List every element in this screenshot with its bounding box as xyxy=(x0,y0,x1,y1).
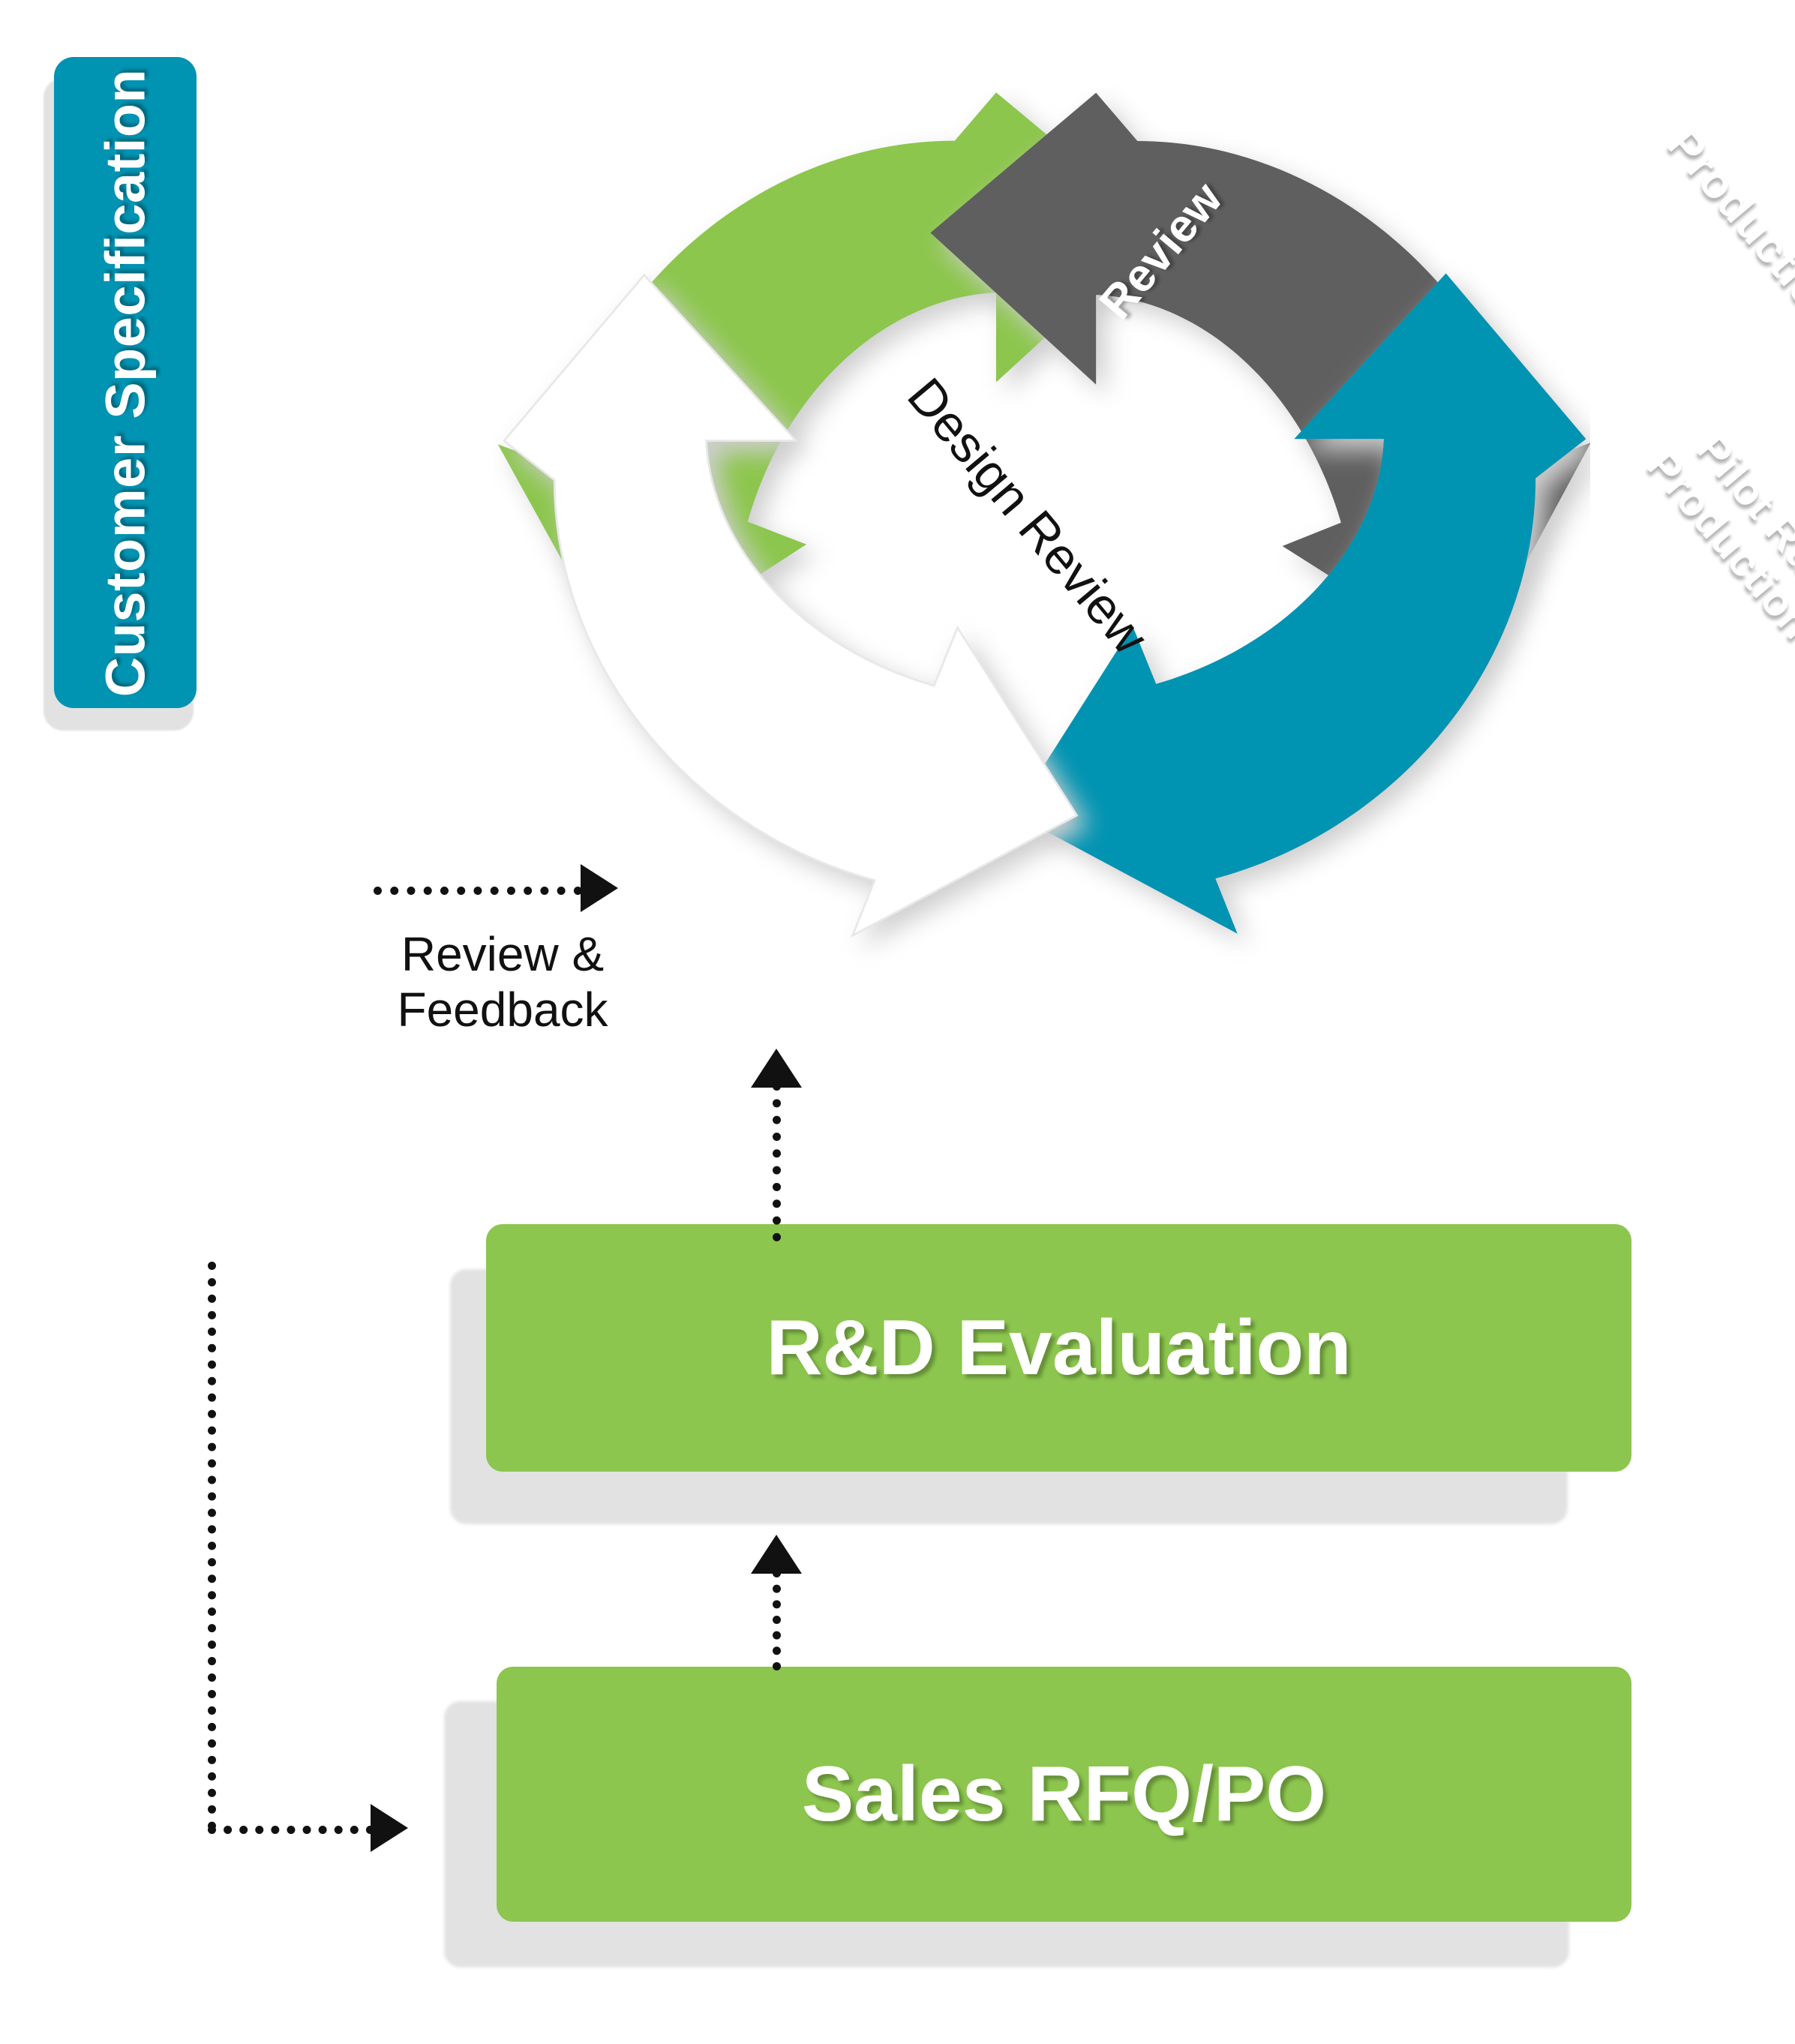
rd-to-cycle-connector-line xyxy=(773,1082,781,1241)
rd-evaluation-box[interactable]: R&D Evaluation xyxy=(486,1224,1631,1472)
cycle-label-production: Production xyxy=(1643,103,1795,355)
sales-to-rd-connector-line xyxy=(773,1569,781,1670)
rd-evaluation-label: R&D Evaluation xyxy=(766,1304,1351,1393)
sales-rfq-po-box[interactable]: Sales RFQ/PO xyxy=(497,1667,1631,1922)
spec-to-sales-arrowhead-icon xyxy=(371,1804,408,1852)
sales-to-rd-arrowhead-icon xyxy=(751,1535,802,1574)
sales-rfq-po-label: Sales RFQ/PO xyxy=(802,1750,1326,1839)
spec-to-sales-connector-horizontal-line xyxy=(208,1826,374,1834)
customer-specification-label: Customer Specification xyxy=(94,68,158,697)
feedback-connector-line xyxy=(374,887,582,895)
cycle-label-pilot-run-production: Pilot Run Production xyxy=(1614,383,1795,675)
customer-specification-panel[interactable]: Customer Specification xyxy=(54,57,197,708)
spec-to-sales-connector-vertical-line xyxy=(208,1262,216,1830)
feedback-connector-arrowhead-icon xyxy=(581,864,618,912)
feedback-connector-label: Review & Feedback xyxy=(360,926,645,1037)
rd-to-cycle-arrowhead-icon xyxy=(751,1049,802,1088)
